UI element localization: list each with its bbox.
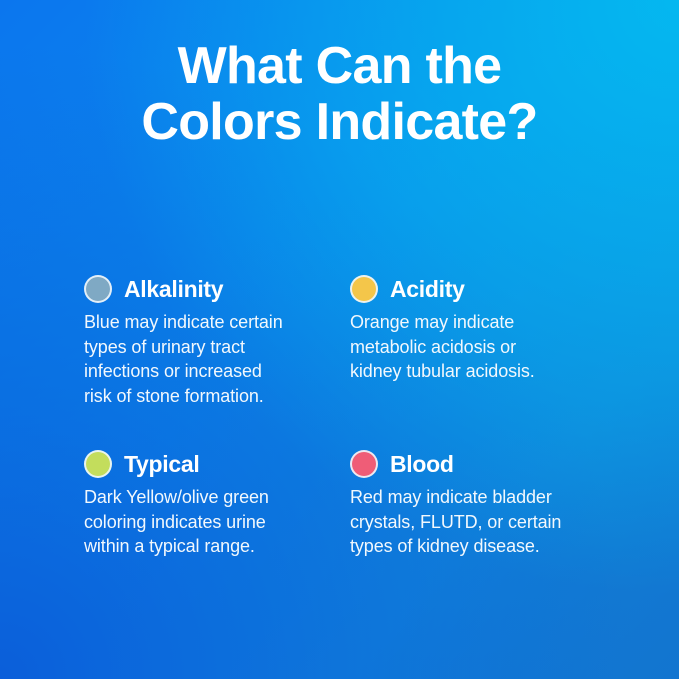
page-title-line-1: What Can the bbox=[0, 38, 679, 94]
legend-entry-typical-description: Dark Yellow/olive green coloring indicat… bbox=[84, 485, 324, 559]
legend-entry-blood: Blood Red may indicate bladder crystals,… bbox=[350, 447, 604, 559]
description-line: metabolic acidosis or bbox=[350, 335, 602, 360]
color-swatch-red-icon bbox=[350, 450, 378, 478]
description-line: types of kidney disease. bbox=[350, 534, 602, 559]
color-legend-grid: Alkalinity Blue may indicate certain typ… bbox=[84, 272, 604, 559]
infographic-card: What Can the Colors Indicate? Alkalinity… bbox=[0, 0, 679, 679]
page-title: What Can the Colors Indicate? bbox=[0, 38, 679, 150]
legend-entry-acidity-description: Orange may indicate metabolic acidosis o… bbox=[350, 310, 602, 384]
legend-entry-typical-label: Typical bbox=[124, 451, 199, 477]
legend-entry-alkalinity-label: Alkalinity bbox=[124, 276, 223, 302]
legend-entry-alkalinity-description: Blue may indicate certain types of urina… bbox=[84, 310, 324, 408]
description-line: Blue may indicate certain bbox=[84, 310, 324, 335]
legend-entry-blood-label: Blood bbox=[390, 451, 454, 477]
legend-entry-acidity-label: Acidity bbox=[390, 276, 465, 302]
color-swatch-blue-icon bbox=[84, 275, 112, 303]
description-line: crystals, FLUTD, or certain bbox=[350, 510, 602, 535]
color-swatch-olive-green-icon bbox=[84, 450, 112, 478]
description-line: within a typical range. bbox=[84, 534, 324, 559]
description-line: coloring indicates urine bbox=[84, 510, 324, 535]
legend-entry-blood-header: Blood bbox=[350, 447, 604, 481]
legend-entry-alkalinity: Alkalinity Blue may indicate certain typ… bbox=[84, 272, 350, 408]
legend-entry-typical-header: Typical bbox=[84, 447, 350, 481]
page-title-line-2: Colors Indicate? bbox=[0, 94, 679, 150]
description-line: Orange may indicate bbox=[350, 310, 602, 335]
legend-entry-alkalinity-header: Alkalinity bbox=[84, 272, 350, 306]
description-line: kidney tubular acidosis. bbox=[350, 359, 602, 384]
description-line: Red may indicate bladder bbox=[350, 485, 602, 510]
color-swatch-orange-icon bbox=[350, 275, 378, 303]
description-line: Dark Yellow/olive green bbox=[84, 485, 324, 510]
description-line: types of urinary tract bbox=[84, 335, 324, 360]
legend-entry-acidity-header: Acidity bbox=[350, 272, 604, 306]
legend-entry-blood-description: Red may indicate bladder crystals, FLUTD… bbox=[350, 485, 602, 559]
description-line: risk of stone formation. bbox=[84, 384, 324, 409]
description-line: infections or increased bbox=[84, 359, 324, 384]
legend-entry-typical: Typical Dark Yellow/olive green coloring… bbox=[84, 447, 350, 559]
legend-entry-acidity: Acidity Orange may indicate metabolic ac… bbox=[350, 272, 604, 408]
